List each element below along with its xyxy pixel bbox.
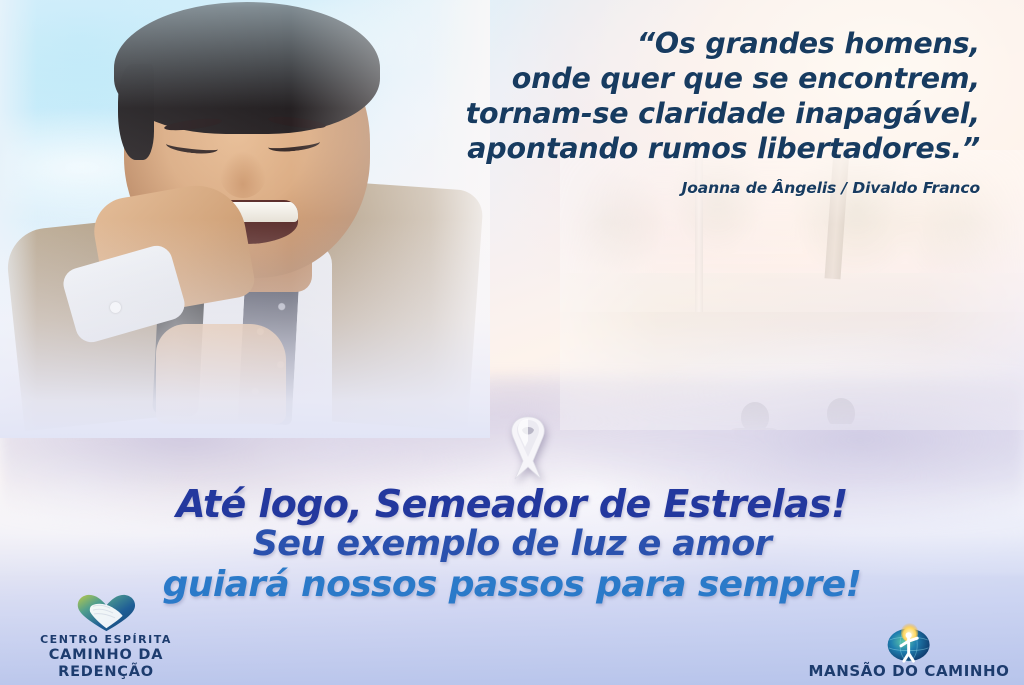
heart-hands-icon bbox=[73, 592, 140, 634]
portrait-photo bbox=[6, 0, 476, 424]
logo-centro-espirita: CENTRO ESPÍRITA CAMINHO DA REDENÇÃO bbox=[6, 592, 206, 681]
globe-figure-torch-icon bbox=[880, 621, 937, 663]
quote-line-3: tornam-se claridade inapagável, bbox=[420, 96, 980, 131]
logo-left-line-2: CAMINHO DA REDENÇÃO bbox=[6, 647, 206, 681]
quote-attribution: Joanna de Ângelis / Divaldo Franco bbox=[420, 179, 980, 197]
memorial-poster: “Os grandes homens, onde quer que se enc… bbox=[0, 0, 1024, 685]
quote-block: “Os grandes homens, onde quer que se enc… bbox=[420, 26, 980, 197]
logo-right-line-2: MANSÃO DO CAMINHO bbox=[808, 663, 1009, 681]
logo-left-line-1: CENTRO ESPÍRITA bbox=[6, 634, 206, 647]
logo-left-text: CENTRO ESPÍRITA CAMINHO DA REDENÇÃO bbox=[6, 634, 206, 681]
hand-holding-microphone bbox=[156, 324, 286, 424]
headline-block: Até logo, Semeador de Estrelas! Seu exem… bbox=[0, 484, 1024, 605]
hair-sideburn bbox=[118, 64, 154, 160]
logo-right-text: MANSÃO DO CAMINHO bbox=[808, 663, 1009, 681]
quote-line-1: “Os grandes homens, bbox=[420, 26, 980, 61]
logo-mansao-do-caminho: MANSÃO DO CAMINHO bbox=[804, 621, 1014, 681]
quote-line-4: apontando rumos libertadores.” bbox=[420, 131, 980, 166]
cuff-button bbox=[110, 302, 121, 313]
mourning-ribbon-icon bbox=[495, 411, 561, 485]
headline-line-1: Até logo, Semeador de Estrelas! bbox=[0, 484, 1024, 525]
quote-line-2: onde quer que se encontrem, bbox=[420, 61, 980, 96]
headline-line-2: Seu exemplo de luz e amor bbox=[0, 525, 1024, 564]
nose bbox=[220, 152, 266, 198]
